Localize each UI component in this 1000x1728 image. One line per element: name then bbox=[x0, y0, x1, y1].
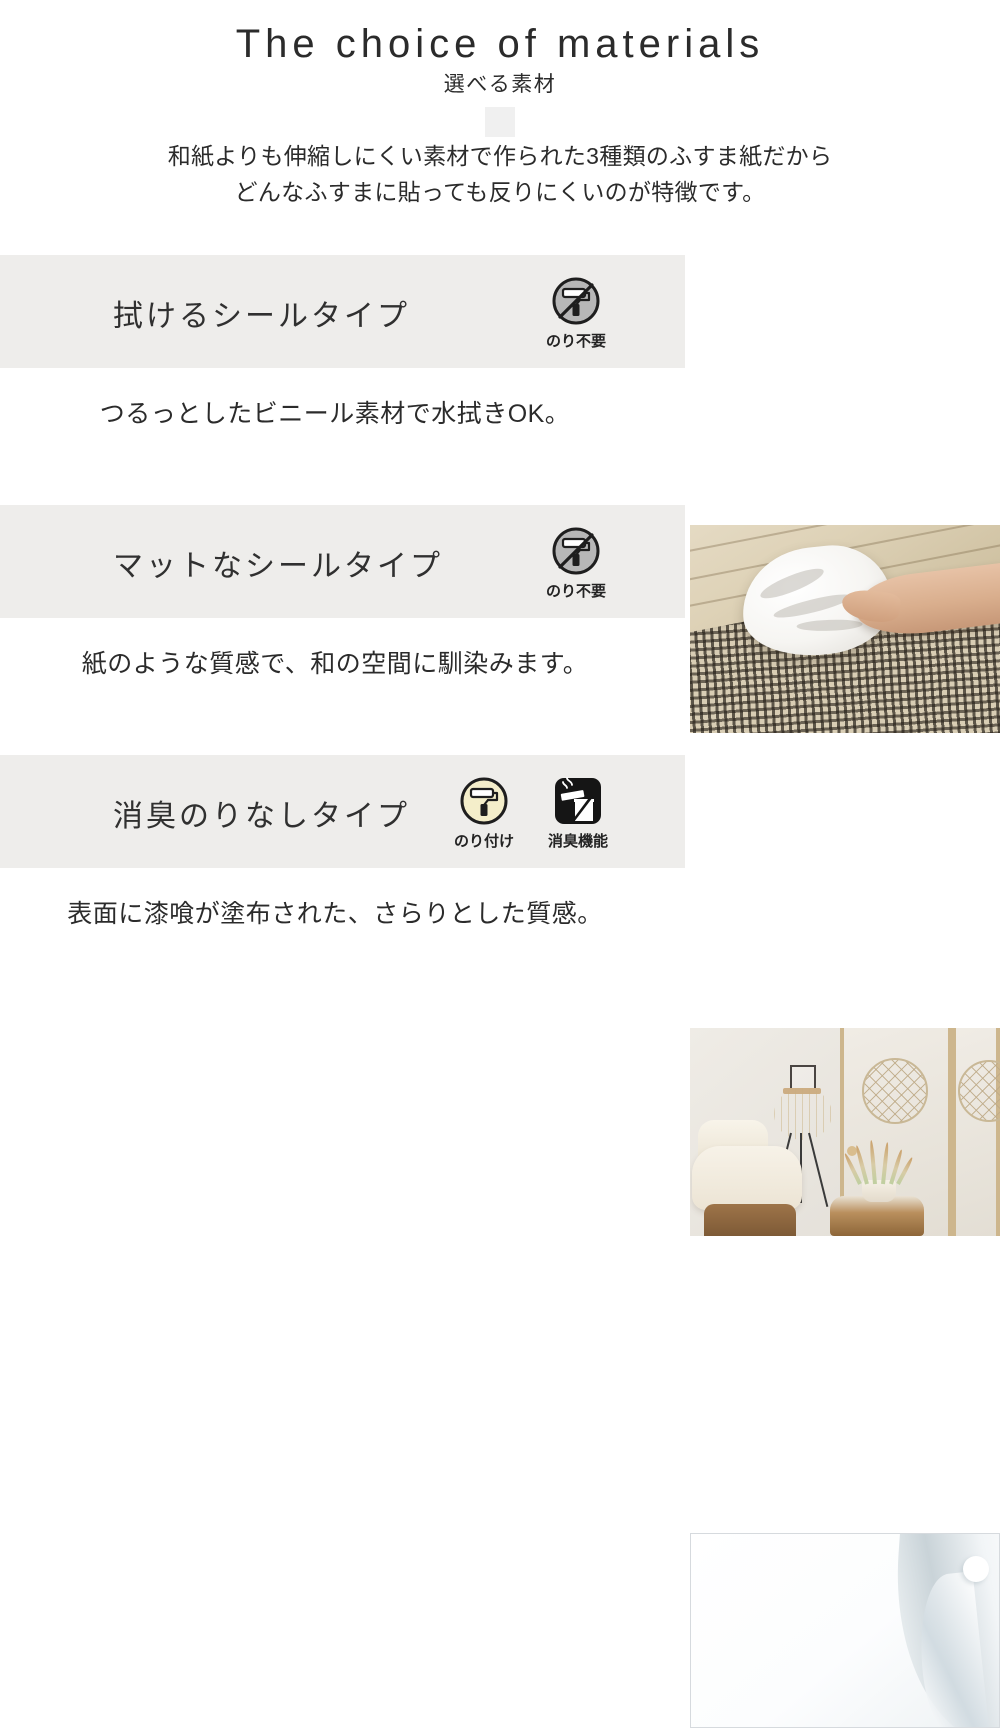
paper-curl-tip bbox=[963, 1556, 989, 1582]
section-1-description: つるっとしたビニール素材で水拭きOK。 bbox=[0, 394, 670, 430]
no-glue-roller-icon bbox=[550, 275, 602, 327]
paper-lantern-shade bbox=[774, 1088, 832, 1140]
glue-roller-icon bbox=[458, 775, 510, 827]
no-glue-roller-icon bbox=[550, 525, 602, 577]
badge-no-glue: のり不要 bbox=[540, 275, 612, 351]
section-1-title: 拭けるシールタイプ bbox=[113, 291, 410, 335]
lead-line-1: 和紙よりも伸縮しにくい素材で作られた3種類のふすま紙だから bbox=[0, 139, 1000, 175]
pampas-grass bbox=[856, 1140, 904, 1184]
badge-glue-included: のり付け bbox=[448, 775, 520, 851]
side-table bbox=[830, 1196, 924, 1236]
lead-paragraph: 和紙よりも伸縮しにくい素材で作られた3種類のふすま紙だから どんなふすまに貼って… bbox=[0, 139, 1000, 210]
kumiko-circle-left bbox=[862, 1058, 928, 1124]
lead-line-2: どんなふすまに貼っても反りにくいのが特徴です。 bbox=[0, 175, 1000, 211]
fusuma-panel-right bbox=[952, 1028, 1000, 1236]
material-section-1: 拭けるシールタイプ のり不要 つるっとしたビニール素材で水拭きOK。 bbox=[0, 255, 1000, 500]
badge-deodorize: 消臭機能 bbox=[542, 775, 614, 851]
section-2-description: 紙のような質感で、和の空間に馴染みます。 bbox=[0, 644, 670, 680]
page-subtitle: 選べる素材 bbox=[0, 68, 1000, 98]
armchair-seat bbox=[692, 1146, 802, 1210]
section-1-badges: のり不要 bbox=[540, 275, 612, 351]
section-3-badges: のり付け 消臭機能 bbox=[448, 775, 614, 851]
decorative-square-divider bbox=[485, 107, 515, 137]
japanese-interior-photo bbox=[690, 1028, 1000, 1236]
section-3-title: 消臭のりなしタイプ bbox=[113, 791, 410, 835]
badge-deodorize-label: 消臭機能 bbox=[548, 830, 608, 851]
deodorize-icon bbox=[552, 775, 604, 827]
section-3-description: 表面に漆喰が塗布された、さらりとした質感。 bbox=[0, 894, 670, 930]
page-title: The choice of materials bbox=[0, 22, 1000, 67]
material-section-3: 消臭のりなしタイプ のり付け bbox=[0, 755, 1000, 1000]
badge-no-glue-label: のり不要 bbox=[546, 330, 606, 351]
armchair-base bbox=[704, 1204, 796, 1236]
section-2-title: マットなシールタイプ bbox=[113, 541, 443, 585]
badge-no-glue-label: のり不要 bbox=[546, 580, 606, 601]
white-paper-sheet-photo bbox=[690, 1533, 1000, 1728]
material-choice-page: The choice of materials 選べる素材 和紙よりも伸縮しにく… bbox=[0, 0, 1000, 1000]
material-section-2: マットなシールタイプ のり不要 紙のような質感で、和の空間に馴染みます。 bbox=[0, 505, 1000, 750]
section-2-badges: のり不要 bbox=[540, 525, 612, 601]
badge-glue-included-label: のり付け bbox=[454, 830, 514, 851]
page-header: The choice of materials 選べる素材 和紙よりも伸縮しにく… bbox=[0, 0, 1000, 255]
badge-no-glue: のり不要 bbox=[540, 525, 612, 601]
